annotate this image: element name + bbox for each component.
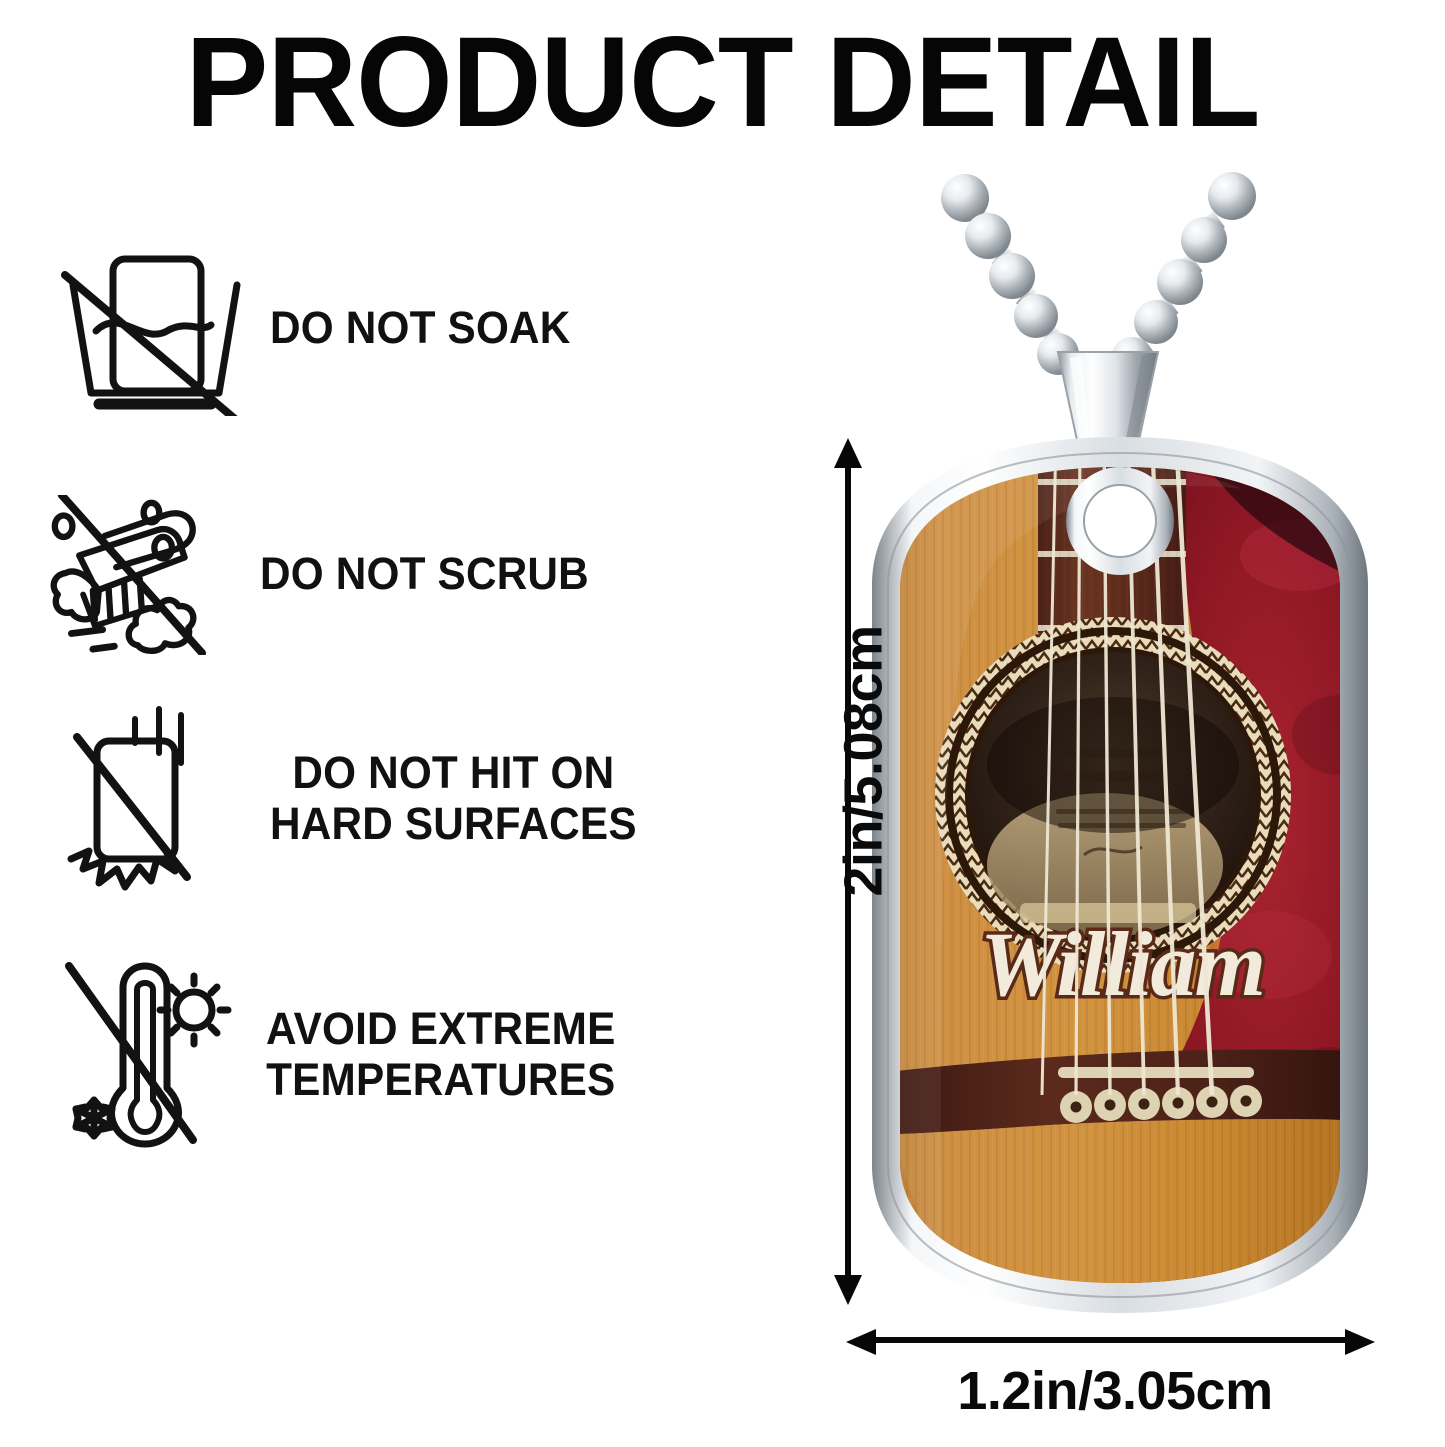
care-instruction-row: DO NOT SCRUB <box>48 482 610 667</box>
height-arrow-down-icon <box>834 1275 862 1305</box>
engraved-name: William <box>980 913 1264 1015</box>
care-instruction-row: DO NOT HIT ON HARD SURFACES <box>48 706 660 891</box>
no-impact-icon <box>48 706 248 891</box>
dog-tag-pendant: William <box>870 435 1370 1315</box>
width-arrow-right-icon <box>1345 1329 1375 1355</box>
no-soak-icon <box>48 236 248 421</box>
no-scrub-icon <box>48 482 248 667</box>
page-title: PRODUCT DETAIL <box>22 18 1424 149</box>
width-dimension-line <box>875 1337 1351 1343</box>
width-dimension-label: 1.2in/3.05cm <box>830 1360 1400 1422</box>
height-arrow-up-icon <box>834 438 862 468</box>
care-instruction-row: DO NOT SOAK <box>48 236 590 421</box>
care-instruction-label: DO NOT SOAK <box>270 303 571 354</box>
care-instruction-label: AVOID EXTREME TEMPERATURES <box>266 1004 616 1106</box>
product-figure: William 2in/5.08cm 1.2in/3.05cm <box>770 170 1430 1447</box>
care-instruction-row: AVOID EXTREME TEMPERATURES <box>48 962 638 1147</box>
care-instruction-label: DO NOT HIT ON HARD SURFACES <box>270 748 637 850</box>
height-dimension-label: 2in/5.08cm <box>833 625 895 896</box>
care-instruction-label: DO NOT SCRUB <box>260 549 589 600</box>
no-temperature-icon <box>48 962 248 1147</box>
tag-hole <box>1066 467 1174 575</box>
width-arrow-left-icon <box>846 1329 876 1355</box>
